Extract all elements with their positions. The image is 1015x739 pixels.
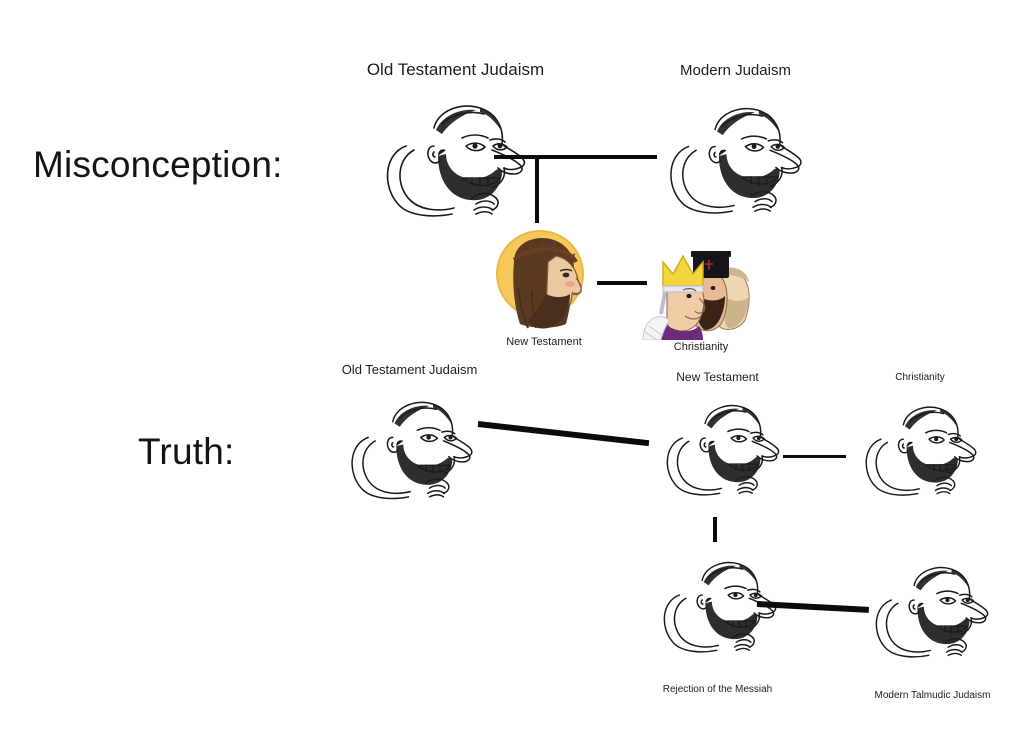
- node-misconception-modern-judaism: Modern Judaism: [648, 62, 823, 222]
- node-caption: Modern Talmudic Judaism: [875, 690, 991, 701]
- jesus-halo-icon: [484, 228, 602, 336]
- clergy-group-icon: [641, 240, 757, 340]
- node-caption: Modern Judaism: [680, 62, 791, 79]
- node-caption: Old Testament Judaism: [367, 60, 544, 80]
- node-truth-modern-talmudic-judaism: Modern Talmudic Judaism: [845, 553, 1015, 708]
- node-caption: New Testament: [676, 370, 758, 384]
- node-misconception-new-testament: New Testament: [479, 228, 609, 353]
- node-truth-new-testament: New Testament: [640, 370, 795, 520]
- node-truth-christianity: Christianity: [845, 372, 995, 522]
- connector-truth-old-to-new: [478, 421, 650, 446]
- connector-misconception-top-horizontal: [494, 155, 657, 159]
- node-caption: Old Testament Judaism: [342, 362, 478, 377]
- connector-truth-new-to-christianity: [783, 455, 846, 458]
- happy-merchant-icon: [660, 96, 812, 218]
- connector-truth-new-to-rejection: [713, 517, 717, 542]
- node-misconception-christianity: Christianity: [641, 240, 761, 355]
- happy-merchant-icon: [867, 553, 997, 665]
- node-caption: Rejection of the Messiah: [663, 684, 773, 695]
- node-caption: Christianity: [674, 341, 728, 353]
- node-truth-rejection-of-the-messiah: Rejection of the Messiah: [630, 548, 805, 703]
- connector-misconception-vertical-drop: [535, 157, 539, 223]
- node-caption: Christianity: [895, 372, 944, 383]
- happy-merchant-icon: [342, 390, 482, 504]
- section-label-truth: Truth:: [138, 431, 234, 473]
- node-misconception-old-testament-judaism: Old Testament Judaism: [368, 60, 543, 220]
- section-label-misconception: Misconception:: [33, 144, 283, 186]
- happy-merchant-icon: [857, 394, 985, 502]
- connector-misconception-newtestament-christianity: [597, 281, 647, 285]
- meme-canvas: Misconception: Truth: Old Testament Juda…: [0, 0, 1015, 739]
- happy-merchant-icon: [658, 392, 788, 502]
- node-caption: New Testament: [506, 336, 582, 348]
- node-truth-old-testament-judaism: Old Testament Judaism: [322, 362, 497, 512]
